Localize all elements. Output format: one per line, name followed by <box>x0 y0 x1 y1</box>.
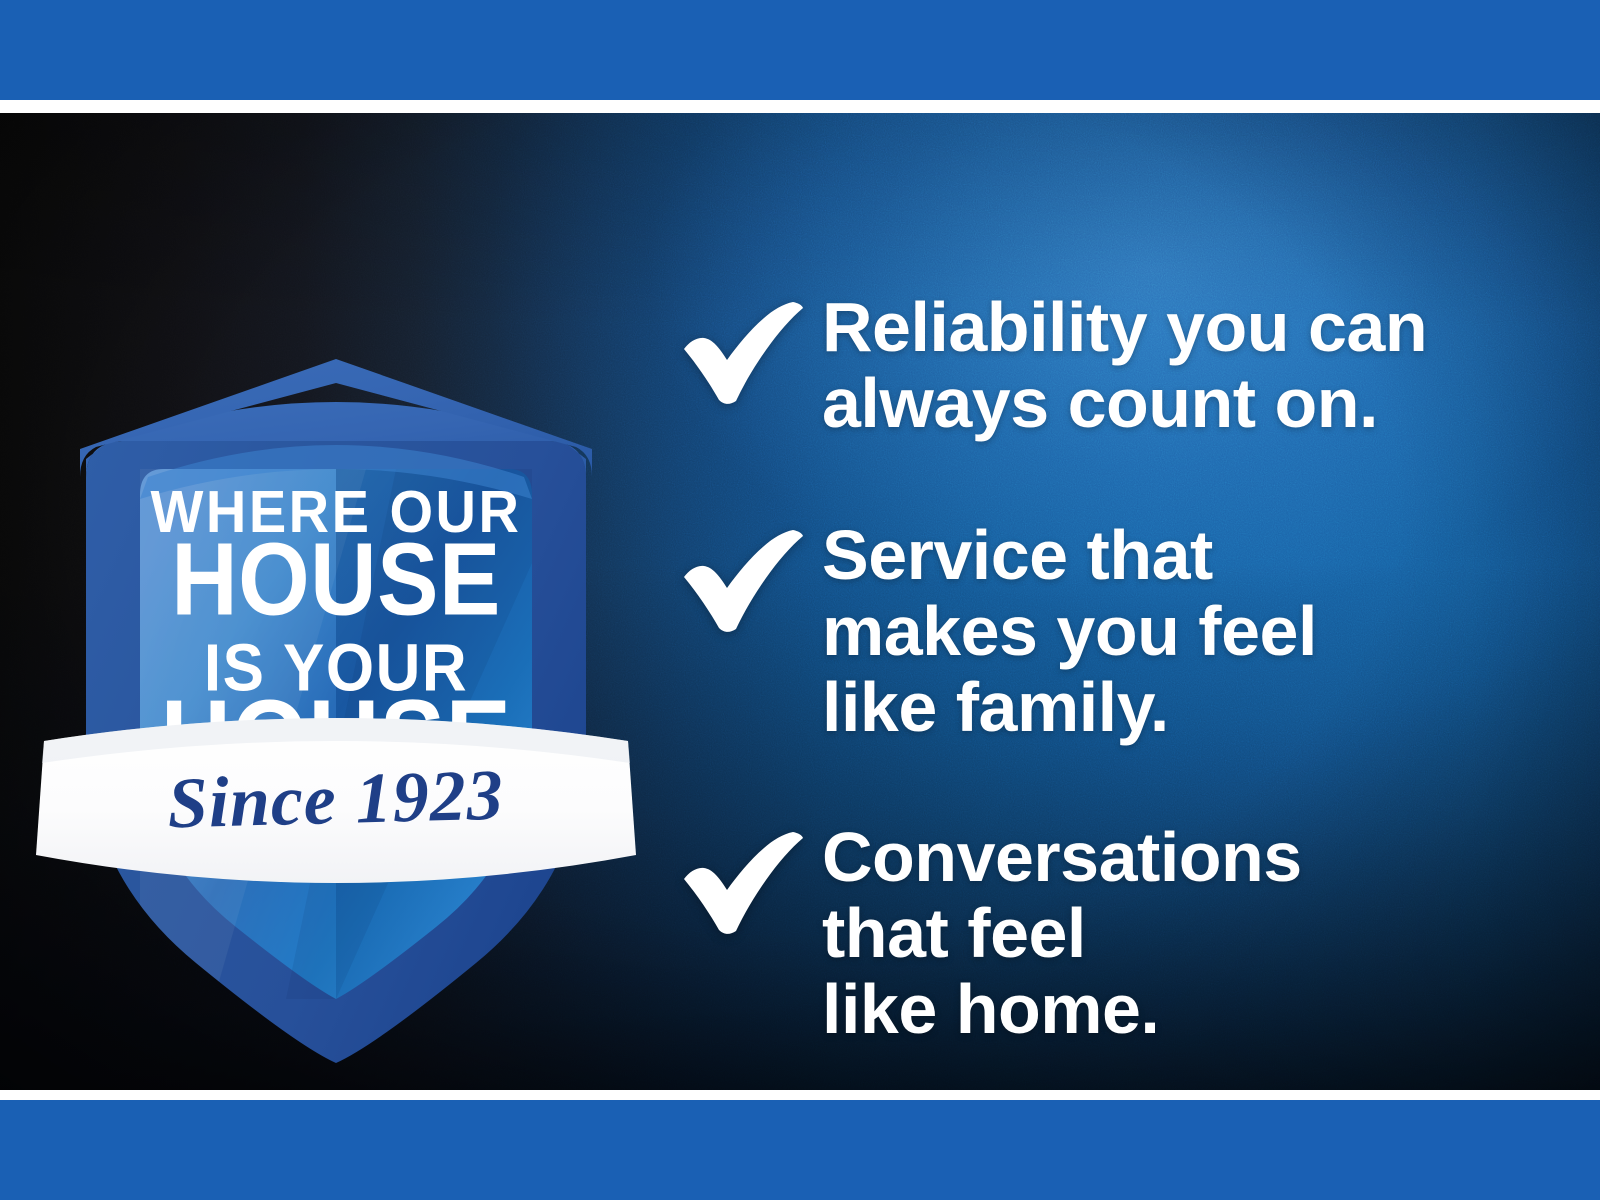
badge-line-2: HOUSE <box>171 522 501 637</box>
benefit-text-reliability: Reliability you can always count on. <box>822 288 1552 442</box>
promo-graphic: WHERE OUR HOUSE IS YOUR HOUSE Since 1923 <box>0 0 1600 1200</box>
check-icon-wrap-2 <box>672 516 822 620</box>
shield-badge: WHERE OUR HOUSE IS YOUR HOUSE Since 1923 <box>36 263 636 1063</box>
check-icon <box>680 530 806 634</box>
benefit-text-service: Service that makes you feel like family. <box>822 516 1552 746</box>
benefit-item-reliability: Reliability you can always count on. <box>672 288 1552 442</box>
top-brand-bar <box>0 0 1600 100</box>
main-panel: WHERE OUR HOUSE IS YOUR HOUSE Since 1923 <box>0 113 1600 1090</box>
check-icon <box>680 832 806 936</box>
check-icon-wrap-3 <box>672 818 822 922</box>
ribbon-banner: Since 1923 <box>36 718 636 883</box>
benefit-text-conversations: Conversations that feel like home. <box>822 818 1552 1048</box>
check-icon <box>680 302 806 406</box>
benefits-list: Reliability you can always count on. Ser… <box>672 288 1552 1048</box>
benefit-item-conversations: Conversations that feel like home. <box>672 818 1552 1048</box>
bottom-brand-bar <box>0 1100 1600 1200</box>
check-icon-wrap-1 <box>672 288 822 392</box>
ribbon-text: Since 1923 <box>167 755 505 844</box>
benefit-item-service: Service that makes you feel like family. <box>672 516 1552 746</box>
